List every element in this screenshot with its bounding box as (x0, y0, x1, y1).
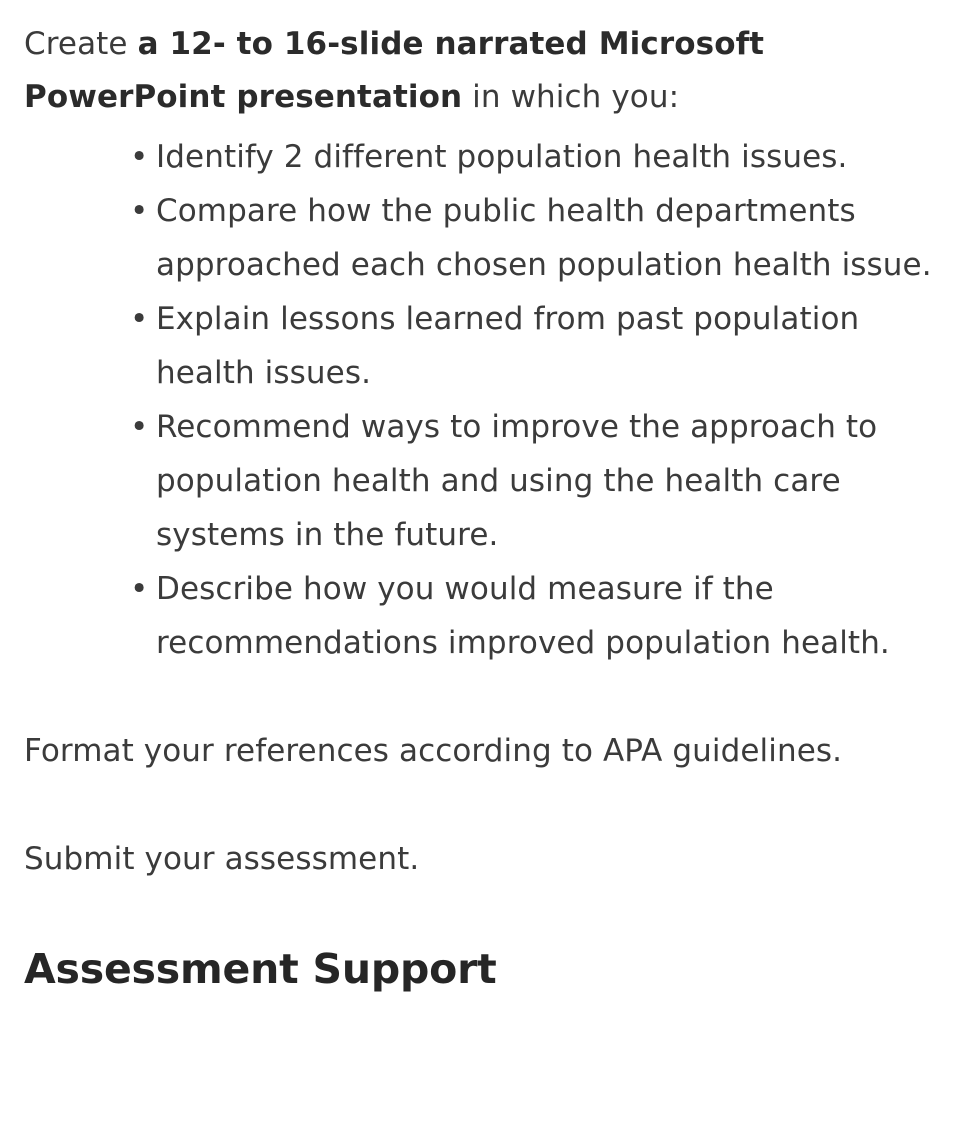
list-item: • Identify 2 different population health… (24, 130, 944, 184)
assignment-instructions-page: Create a 12- to 16-slide narrated Micros… (0, 0, 972, 1142)
intro-tail-text: in which you: (462, 79, 679, 115)
list-item-text: Compare how the public health department… (156, 184, 944, 292)
list-item: • Describe how you would measure if the … (24, 562, 944, 670)
requirements-list-wrapper: • Identify 2 different population health… (24, 130, 944, 670)
list-item-text: Identify 2 different population health i… (156, 130, 944, 184)
bullet-icon: • (130, 400, 148, 454)
submit-paragraph: Submit your assessment. (24, 832, 944, 886)
list-item: • Compare how the public health departme… (24, 184, 944, 292)
bullet-icon: • (130, 292, 148, 346)
bullet-icon: • (130, 562, 148, 616)
list-item: • Explain lessons learned from past popu… (24, 292, 944, 400)
bullet-icon: • (130, 184, 148, 238)
list-item-text: Explain lessons learned from past popula… (156, 292, 944, 400)
intro-lead-text: Create (24, 26, 138, 62)
list-item-text: Describe how you would measure if the re… (156, 562, 944, 670)
list-item: • Recommend ways to improve the approach… (24, 400, 944, 562)
bullet-icon: • (130, 130, 148, 184)
references-paragraph: Format your references according to APA … (24, 724, 944, 778)
list-item-text: Recommend ways to improve the approach t… (156, 400, 944, 562)
assessment-support-heading: Assessment Support (24, 944, 944, 994)
requirements-bullet-list: • Identify 2 different population health… (24, 130, 944, 670)
content-column: Create a 12- to 16-slide narrated Micros… (24, 18, 944, 994)
intro-paragraph: Create a 12- to 16-slide narrated Micros… (24, 18, 944, 124)
